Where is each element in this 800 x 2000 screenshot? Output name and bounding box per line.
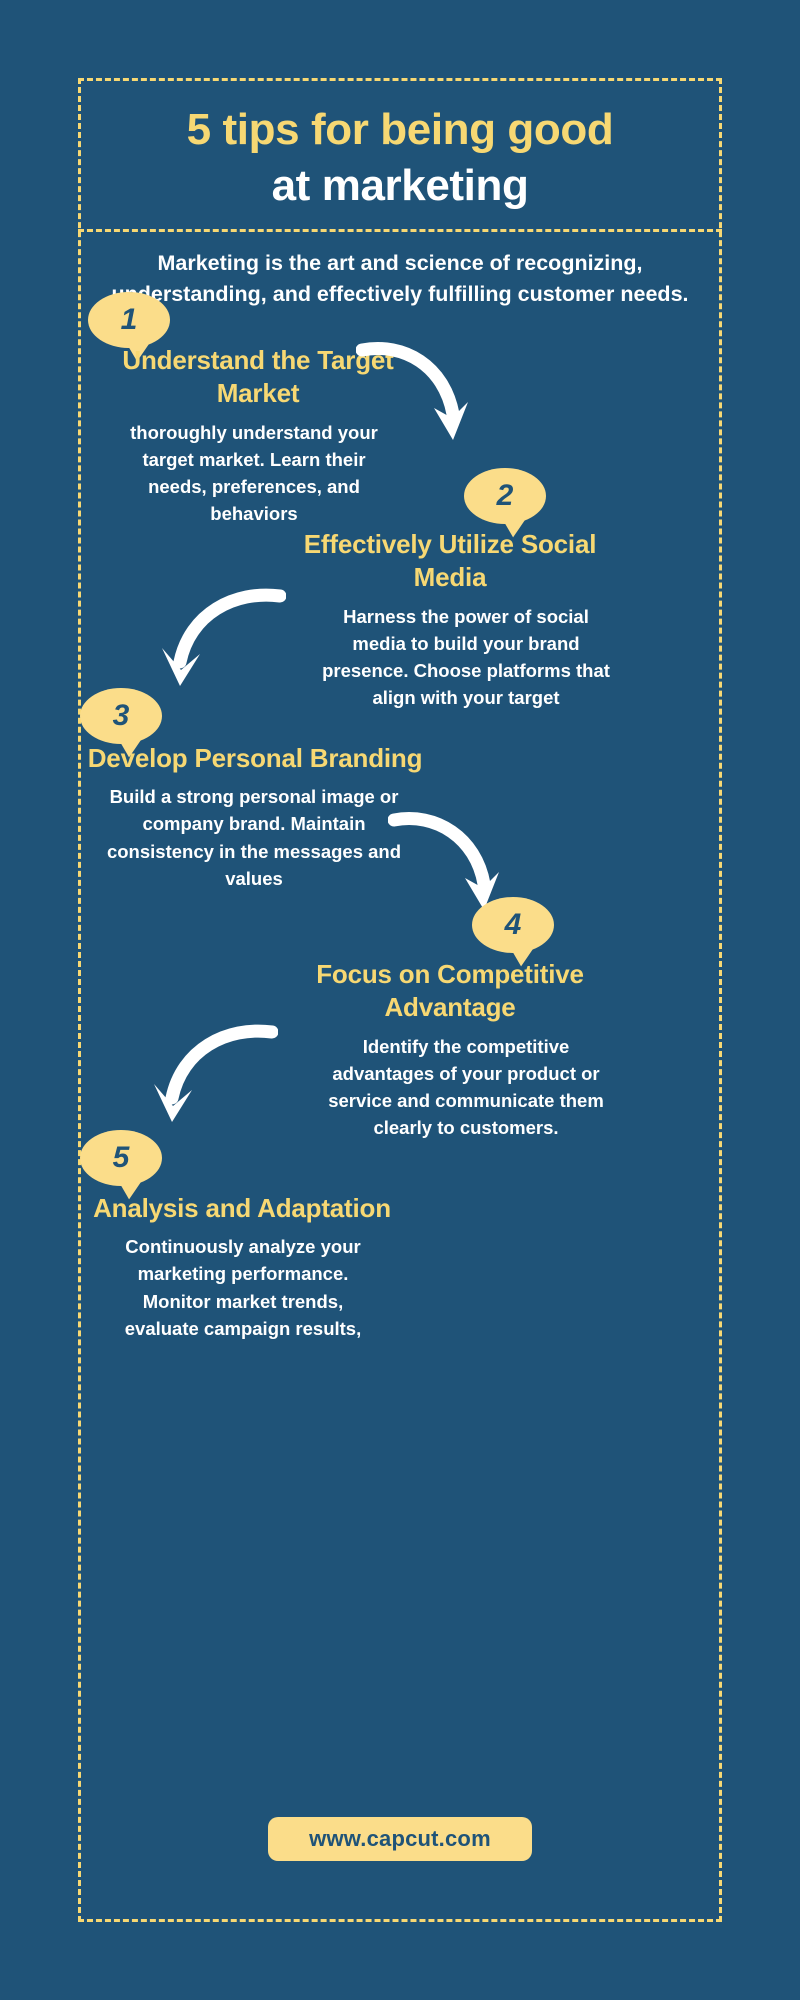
tip-title-2: Effectively Utilize Social Media <box>285 528 615 595</box>
arrow-1-to-2-icon <box>356 336 476 461</box>
tip-block-5: Analysis and Adaptation Continuously ana… <box>72 1192 412 1342</box>
intro-paragraph: Marketing is the art and science of reco… <box>96 248 704 311</box>
tip-title-5: Analysis and Adaptation <box>72 1192 412 1225</box>
tip-title-3: Develop Personal Branding <box>85 742 425 775</box>
tip-badge-number-4: 4 <box>505 908 522 942</box>
tip-badge-4: 4 <box>472 897 554 953</box>
tip-badge-1: 1 <box>88 292 170 348</box>
tip-badge-number-1: 1 <box>121 303 138 337</box>
page-title-line-1: 5 tips for being good <box>108 102 692 158</box>
tip-body-3: Build a strong personal image or company… <box>99 783 409 892</box>
tip-badge-2: 2 <box>464 468 546 524</box>
tip-badge-5: 5 <box>80 1130 162 1186</box>
header-block: 5 tips for being good at marketing <box>78 78 722 232</box>
footer-url-button[interactable]: www.capcut.com <box>268 1817 532 1861</box>
tip-badge-number-3: 3 <box>113 699 130 733</box>
arrow-4-to-5-svg <box>148 1020 278 1132</box>
tip-block-2: Effectively Utilize Social Media Harness… <box>285 528 615 711</box>
page-title-line-2: at marketing <box>108 158 692 214</box>
arrow-2-to-3-svg <box>156 586 286 696</box>
infographic-canvas: 5 tips for being good at marketing Marke… <box>0 0 800 2000</box>
tip-body-1: thoroughly understand your target market… <box>115 419 393 528</box>
tip-body-4: Identify the competitive advantages of y… <box>316 1033 616 1142</box>
tip-badge-3: 3 <box>80 688 162 744</box>
tip-body-5: Continuously analyze your marketing perf… <box>116 1233 370 1342</box>
arrow-2-to-3-icon <box>156 586 286 701</box>
footer-url-label: www.capcut.com <box>309 1826 491 1852</box>
tip-block-4: Focus on Competitive Advantage Identify … <box>280 958 620 1141</box>
tip-body-2: Harness the power of social media to bui… <box>321 603 611 712</box>
tip-badge-number-5: 5 <box>113 1141 130 1175</box>
tip-block-3: Develop Personal Branding Build a strong… <box>85 742 425 892</box>
arrow-4-to-5-icon <box>148 1020 278 1137</box>
tip-badge-number-2: 2 <box>497 479 514 513</box>
arrow-1-to-2-svg <box>356 336 476 456</box>
tip-title-4: Focus on Competitive Advantage <box>280 958 620 1025</box>
